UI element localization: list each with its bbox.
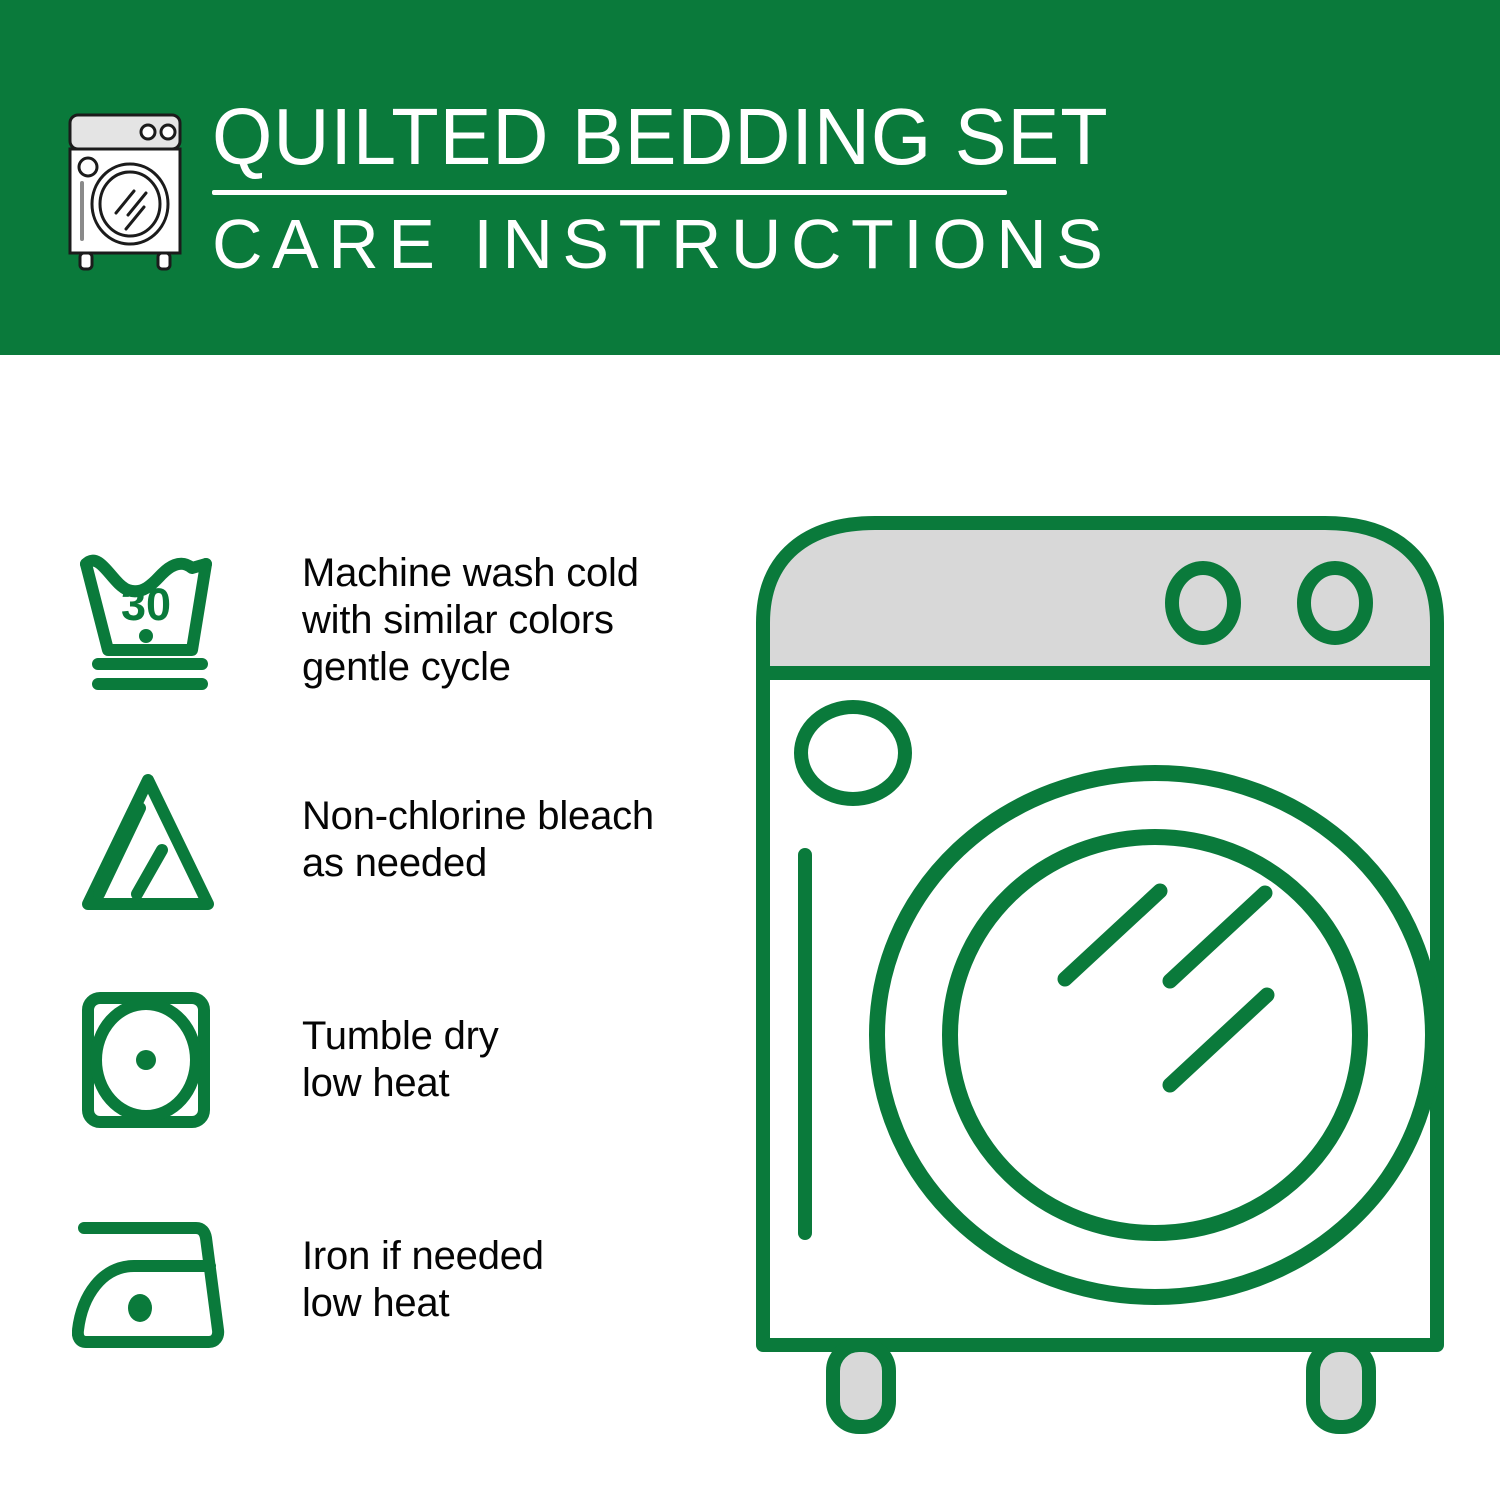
header-text-block: QUILTED BEDDING SET CARE INSTRUCTIONS xyxy=(212,95,1136,281)
tumble-dry-low-icon xyxy=(72,984,240,1136)
front-load-washing-machine-illustration xyxy=(735,495,1465,1445)
knob-icon xyxy=(1304,568,1366,638)
page-title: QUILTED BEDDING SET xyxy=(212,95,1109,179)
care-item-machine-wash: 30 Machine wash cold with similar colors… xyxy=(72,510,712,730)
content-area: 30 Machine wash cold with similar colors… xyxy=(0,355,1500,1500)
iron-low-heat-icon xyxy=(72,1204,240,1356)
knob-icon xyxy=(1172,568,1234,638)
care-item-label: Non-chlorine bleach as needed xyxy=(302,793,654,887)
header-content: QUILTED BEDDING SET CARE INSTRUCTIONS xyxy=(60,95,1136,281)
care-item-label: Iron if needed low heat xyxy=(302,1233,544,1327)
wash-tub-30-icon: 30 xyxy=(72,544,240,696)
care-item-label: Tumble dry low heat xyxy=(302,1013,499,1107)
care-item-tumble-dry: Tumble dry low heat xyxy=(72,950,712,1170)
dispenser-dial-icon xyxy=(801,707,905,799)
leg-left xyxy=(833,1345,889,1427)
care-item-bleach: Non-chlorine bleach as needed xyxy=(72,730,712,950)
title-divider xyxy=(212,190,1007,195)
care-item-iron: Iron if needed low heat xyxy=(72,1170,712,1390)
wash-temperature-label: 30 xyxy=(121,579,171,630)
leg-right xyxy=(1313,1345,1369,1427)
page-subtitle: CARE INSTRUCTIONS xyxy=(212,207,1136,281)
care-instruction-list: 30 Machine wash cold with similar colors… xyxy=(72,510,712,1390)
washing-machine-icon xyxy=(60,107,190,272)
header-banner: QUILTED BEDDING SET CARE INSTRUCTIONS xyxy=(0,0,1500,355)
non-chlorine-bleach-triangle-icon xyxy=(72,764,240,916)
care-item-label: Machine wash cold with similar colors ge… xyxy=(302,550,639,691)
